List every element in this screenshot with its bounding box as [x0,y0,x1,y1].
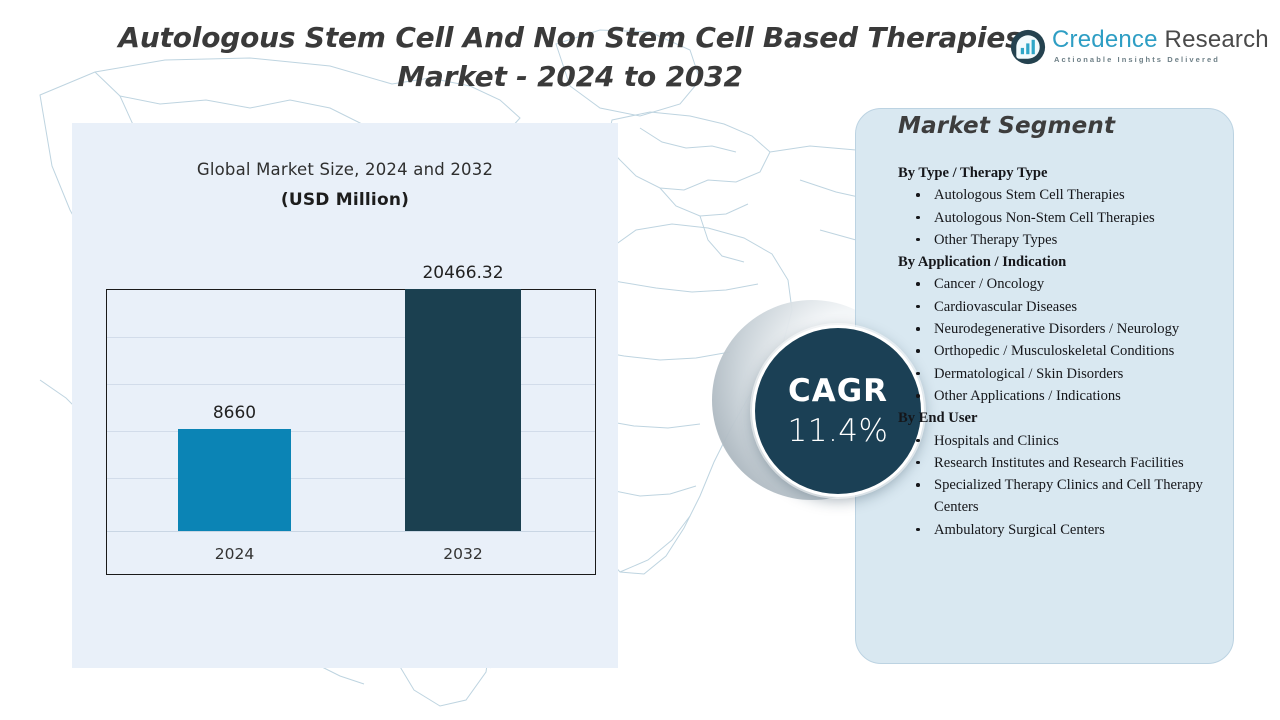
bullet-icon [916,193,920,197]
bullet-icon [916,394,920,398]
bullet-icon [916,439,920,443]
bullet-icon [916,305,920,309]
chart-title: Global Market Size, 2024 and 2032 [72,160,618,179]
market-segment-list: By Type / Therapy TypeAutologous Stem Ce… [898,162,1218,541]
segment-item-label: Dermatological / Skin Disorders [934,366,1123,382]
segment-item-label: Autologous Non-Stem Cell Therapies [934,210,1155,226]
logo-tagline: Actionable Insights Delivered [1054,55,1220,64]
segment-list-item: Hospitals and Clinics [898,430,1218,452]
segment-item-label: Neurodegenerative Disorders / Neurology [934,321,1179,337]
segment-item-label: Other Therapy Types [934,232,1057,248]
segment-item-label: Cancer / Oncology [934,276,1044,292]
segment-item-label: Ambulatory Surgical Centers [934,522,1105,538]
page-title-line2: Market - 2024 to 2032 [397,60,742,93]
segment-item-label: Cardiovascular Diseases [934,299,1077,315]
bullet-icon [916,372,920,376]
brand-logo[interactable]: Credence Research Actionable Insights De… [1010,24,1260,76]
bar-category-label-2032: 2032 [405,545,521,563]
logo-wordmark: Credence Research [1052,26,1269,54]
chart-subtitle: (USD Million) [72,190,618,210]
segment-category: By End User [898,407,1218,429]
bar-value-label-2024: 8660 [178,403,291,423]
segment-category: By Application / Indication [898,251,1218,273]
gridline [107,384,595,385]
bullet-icon [916,327,920,331]
bullet-icon [916,483,920,487]
bullet-icon [916,282,920,286]
segment-list-item: Other Applications / Indications [898,385,1218,407]
segment-list-item: Cardiovascular Diseases [898,296,1218,318]
cagr-value: 11.4% [788,416,889,447]
segment-item-label: Research Institutes and Research Facilit… [934,455,1184,471]
segment-item-label: Orthopedic / Musculoskeletal Conditions [934,343,1174,359]
segment-list-item: Autologous Non-Stem Cell Therapies [898,207,1218,229]
logo-brand-secondary: Research [1158,26,1269,53]
bullet-icon [916,528,920,532]
bar-chart: 8660 2024 20466.32 2032 [106,289,596,575]
cagr-label: CAGR [788,376,888,407]
segment-list-item: Dermatological / Skin Disorders [898,363,1218,385]
bullet-icon [916,216,920,220]
segment-list-item: Specialized Therapy Clinics and Cell The… [898,474,1218,519]
segment-item-label: Other Applications / Indications [934,388,1121,404]
segment-category: By Type / Therapy Type [898,162,1218,184]
bullet-icon [916,349,920,353]
gridline [107,337,595,338]
bullet-icon [916,461,920,465]
logo-brand-primary: Credence [1052,26,1158,53]
axis-baseline [107,531,595,532]
segment-list-item: Neurodegenerative Disorders / Neurology [898,318,1218,340]
infographic-canvas: Autologous Stem Cell And Non Stem Cell B… [0,0,1280,720]
page-title-line1: Autologous Stem Cell And Non Stem Cell B… [118,21,1021,54]
bar-chart-circle-icon [1010,29,1046,65]
segment-list-item: Other Therapy Types [898,229,1218,251]
market-segment-heading: Market Segment [898,113,1115,139]
bar-2024[interactable] [178,429,291,531]
page-title: Autologous Stem Cell And Non Stem Cell B… [90,18,1050,96]
segment-list-item: Autologous Stem Cell Therapies [898,184,1218,206]
segment-list-item: Orthopedic / Musculoskeletal Conditions [898,340,1218,362]
bar-2032[interactable] [405,289,521,531]
segment-list-item: Research Institutes and Research Facilit… [898,452,1218,474]
segment-item-label: Specialized Therapy Clinics and Cell The… [934,477,1203,515]
segment-item-label: Autologous Stem Cell Therapies [934,187,1125,203]
bar-category-label-2024: 2024 [178,545,291,563]
bar-value-label-2032: 20466.32 [395,263,531,283]
segment-list-item: Ambulatory Surgical Centers [898,519,1218,541]
segment-list-item: Cancer / Oncology [898,273,1218,295]
segment-item-label: Hospitals and Clinics [934,433,1059,449]
bullet-icon [916,238,920,242]
